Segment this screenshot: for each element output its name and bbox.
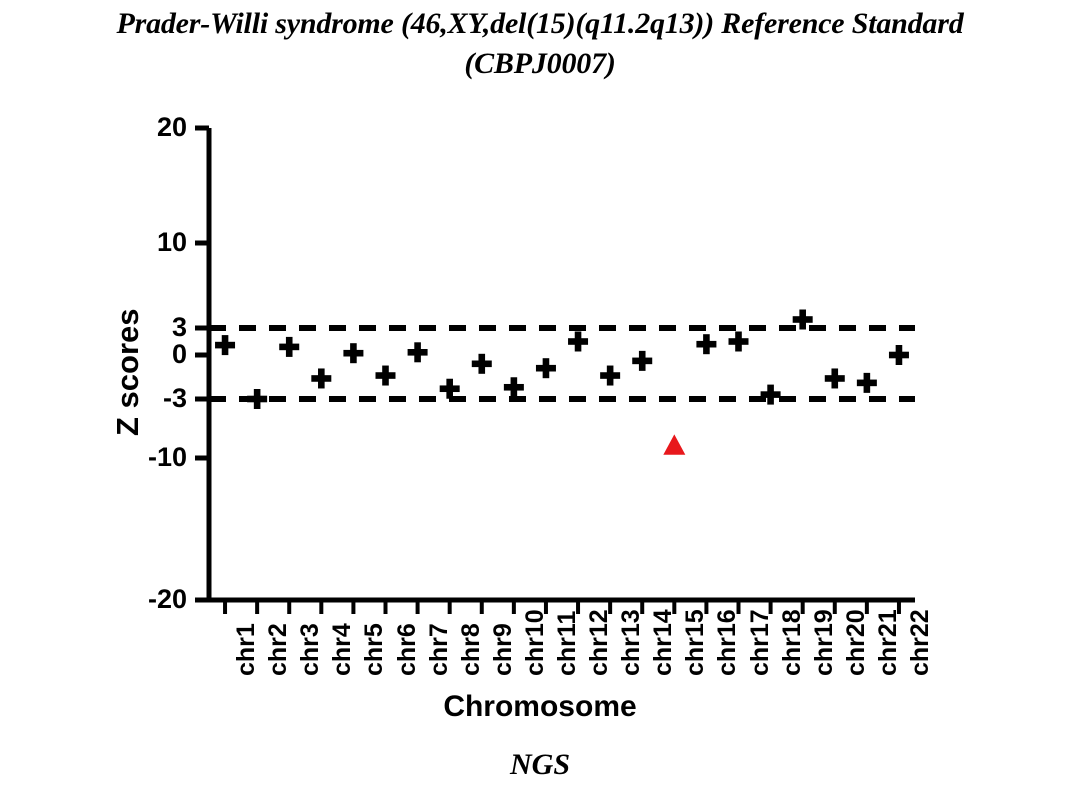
- y-axis-title: Z scores: [112, 308, 143, 436]
- data-point-chr5: [343, 343, 363, 363]
- plus-marker-vertical: [831, 368, 838, 388]
- plus-marker-vertical: [607, 366, 614, 386]
- x-axis-tick-label-chr7: chr7: [427, 623, 452, 676]
- x-axis-tick-label-chr10: chr10: [523, 609, 548, 676]
- x-axis-title: Chromosome: [0, 692, 1080, 722]
- data-point-chr4: [311, 368, 331, 388]
- threshold-lines: [209, 328, 915, 399]
- x-axis-tick-label-chr8: chr8: [459, 623, 484, 676]
- x-axis-tick-label-chr6: chr6: [395, 623, 420, 676]
- x-axis-tick-label-chr5: chr5: [362, 623, 387, 676]
- x-axis-tick-label-chr12: chr12: [587, 609, 612, 676]
- x-axis-tick-label-chr2: chr2: [266, 623, 291, 676]
- x-axis-tick-label-chr13: chr13: [619, 609, 644, 676]
- plus-marker-vertical: [414, 342, 421, 362]
- x-axis-tick-label-chr9: chr9: [491, 623, 516, 676]
- plus-marker-vertical: [478, 354, 485, 374]
- x-axis-tick-label-chr19: chr19: [812, 609, 837, 676]
- x-axis-tick-label-chr20: chr20: [844, 609, 869, 676]
- data-point-chr10: [504, 377, 524, 397]
- plus-marker-vertical: [767, 385, 774, 405]
- x-axis-tick-label-chr3: chr3: [298, 623, 323, 676]
- x-axis-tick-label-chr11: chr11: [555, 611, 580, 676]
- y-axis-tick-label: -10: [117, 444, 187, 471]
- data-point-chr16: [696, 334, 716, 354]
- data-point-chr11: [536, 358, 556, 378]
- data-point-chr21: [857, 373, 877, 393]
- data-point-chr14: [632, 351, 652, 371]
- x-axis-tick-label-chr21: chr21: [876, 609, 901, 676]
- plus-marker-vertical: [446, 379, 453, 399]
- data-point-chr2: [247, 389, 267, 409]
- plus-marker-vertical: [222, 335, 229, 355]
- highlight-triangle-marker: [663, 434, 685, 454]
- x-axis-tick-label-chr18: chr18: [780, 609, 805, 676]
- data-point-chr7: [408, 342, 428, 362]
- plus-marker-vertical: [703, 334, 710, 354]
- y-axis-tick-label: 10: [117, 229, 187, 256]
- data-point-chr9: [472, 354, 492, 374]
- plus-marker-vertical: [511, 377, 518, 397]
- data-point-chr1: [215, 335, 235, 355]
- data-point-chr13: [600, 366, 620, 386]
- data-markers: [215, 310, 909, 455]
- plus-marker-vertical: [575, 332, 582, 352]
- x-axis-tick-label-chr1: chr1: [234, 623, 259, 676]
- data-point-chr8: [440, 379, 460, 399]
- data-point-chr17: [729, 332, 749, 352]
- plus-marker-vertical: [350, 343, 357, 363]
- x-axis-tick-label-chr17: chr17: [748, 609, 773, 676]
- figure-caption: NGS: [0, 748, 1080, 782]
- data-point-chr3: [279, 337, 299, 357]
- data-point-chr6: [376, 366, 396, 386]
- x-axis-tick-label-chr14: chr14: [651, 609, 676, 676]
- figure-root: Prader-Willi syndrome (46,XY,del(15)(q11…: [0, 0, 1080, 790]
- axes-group: [209, 128, 915, 600]
- plus-marker-vertical: [864, 373, 871, 393]
- x-axis-tick-label-chr22: chr22: [908, 609, 933, 676]
- data-point-chr22: [889, 345, 909, 365]
- x-axis-tick-label-chr15: chr15: [683, 609, 708, 676]
- plus-marker-vertical: [639, 351, 646, 371]
- plus-marker-vertical: [896, 345, 903, 365]
- y-axis-tick-label: -20: [117, 586, 187, 613]
- y-axis-tick-label: 20: [117, 114, 187, 141]
- plus-marker-vertical: [382, 366, 389, 386]
- plus-marker-vertical: [543, 358, 550, 378]
- data-point-chr12: [568, 332, 588, 352]
- plus-marker-vertical: [799, 310, 806, 330]
- plus-marker-vertical: [286, 337, 293, 357]
- data-point-chr20: [825, 368, 845, 388]
- plus-marker-vertical: [254, 389, 261, 409]
- x-axis-tick-label-chr16: chr16: [715, 609, 740, 676]
- plus-marker-vertical: [318, 368, 325, 388]
- plus-marker-vertical: [735, 332, 742, 352]
- x-axis-tick-label-chr4: chr4: [330, 623, 355, 676]
- data-point-chr15: [663, 434, 685, 454]
